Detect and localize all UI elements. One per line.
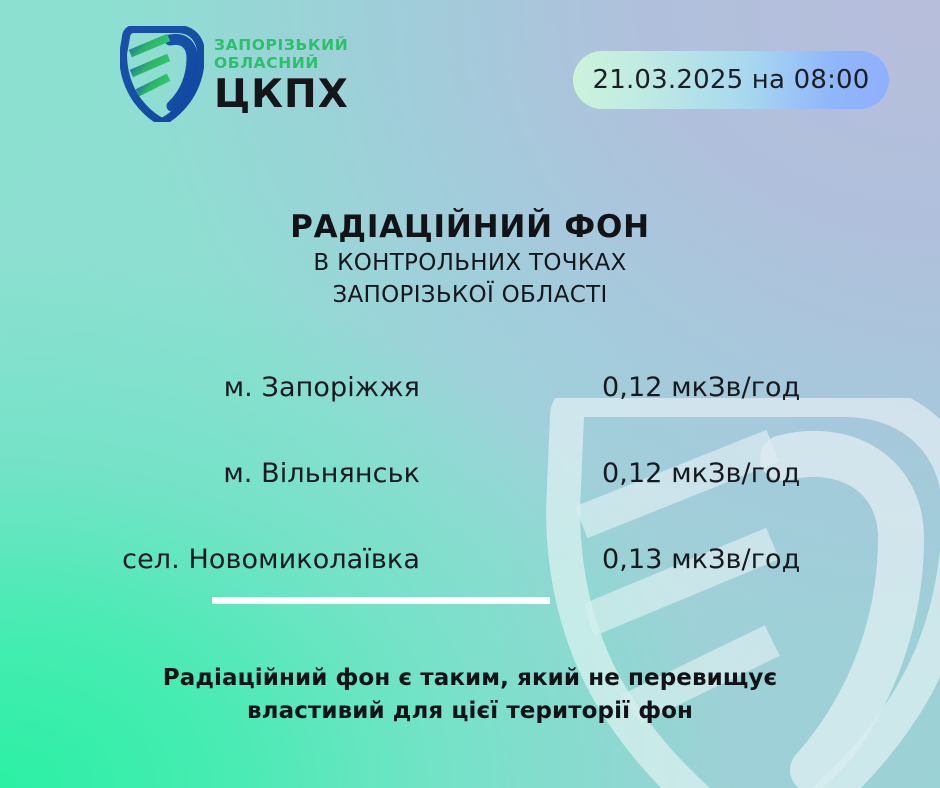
reading-row: м. Запоріжжя 0,12 мкЗв/год [0, 372, 940, 458]
readings-list: м. Запоріжжя 0,12 мкЗв/год м. Вільнянськ… [0, 372, 940, 630]
reading-value: 0,12 мкЗв/год [602, 372, 800, 403]
logo-line-2: ОБЛАСНИЙ [214, 55, 349, 72]
date-time-text: 21.03.2025 на 08:00 [592, 65, 869, 95]
title-block: РАДІАЦІЙНИЙ ФОН В КОНТРОЛЬНИХ ТОЧКАХ ЗАП… [0, 209, 940, 311]
logo-abbreviation: ЦКПХ [214, 75, 349, 115]
reading-value: 0,13 мкЗв/год [602, 544, 800, 575]
footer-line-2: властивий для цієї території фон [0, 695, 940, 728]
organization-logo: ЗАПОРІЗЬКИЙ ОБЛАСНИЙ ЦКПХ [120, 26, 349, 122]
reading-place: сел. Новомиколаївка [0, 544, 420, 575]
radiation-background-poster: ЗАПОРІЗЬКИЙ ОБЛАСНИЙ ЦКПХ 21.03.2025 на … [0, 0, 940, 788]
logo-wordmark: ЗАПОРІЗЬКИЙ ОБЛАСНИЙ ЦКПХ [214, 33, 349, 114]
footer-note: Радіаційний фон є таким, який не перевищ… [0, 662, 940, 727]
page-title: РАДІАЦІЙНИЙ ФОН [0, 209, 940, 246]
logo-line-1: ЗАПОРІЗЬКИЙ [214, 37, 349, 54]
reading-place: м. Вільнянськ [0, 458, 420, 489]
reading-value: 0,12 мкЗв/год [602, 458, 800, 489]
shield-chevrons-logo-icon [120, 26, 204, 122]
page-subtitle-line-1: В КОНТРОЛЬНИХ ТОЧКАХ [0, 248, 940, 279]
reading-row: м. Вільнянськ 0,12 мкЗв/год [0, 458, 940, 544]
date-time-badge: 21.03.2025 на 08:00 [573, 51, 889, 109]
reading-row: сел. Новомиколаївка 0,13 мкЗв/год [0, 544, 940, 630]
divider-bar [212, 597, 550, 604]
reading-place: м. Запоріжжя [0, 372, 420, 403]
page-subtitle-line-2: ЗАПОРІЗЬКОЇ ОБЛАСТІ [0, 280, 940, 311]
footer-line-1: Радіаційний фон є таким, який не перевищ… [0, 662, 940, 695]
